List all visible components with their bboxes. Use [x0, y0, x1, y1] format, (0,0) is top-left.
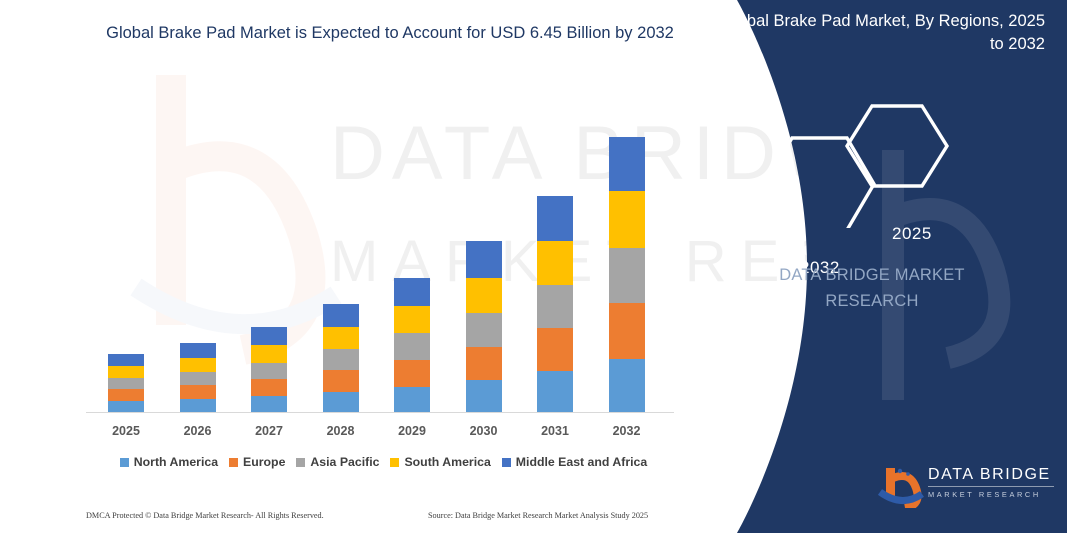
bar-segment — [180, 385, 216, 399]
bar-segment — [394, 306, 430, 333]
bar-column — [323, 304, 359, 413]
bar-column — [394, 278, 430, 413]
hexagon-2025-shape — [847, 106, 947, 186]
hexagon-2032-shape — [765, 138, 874, 228]
legend-item[interactable]: South America — [390, 455, 490, 469]
hexagons-icon — [752, 98, 1052, 228]
bar-segment — [251, 327, 287, 345]
bar-segment — [323, 304, 359, 327]
bar-segment — [323, 370, 359, 392]
bar-segment — [180, 358, 216, 372]
x-axis-label: 2027 — [234, 424, 304, 438]
bar-column — [466, 241, 502, 413]
bar-segment — [394, 333, 430, 360]
right-panel: Global Brake Pad Market, By Regions, 202… — [677, 0, 1067, 533]
legend-swatch — [120, 458, 129, 467]
bar-segment — [180, 399, 216, 413]
hexagon-group: 2025 2032 — [752, 98, 1052, 228]
bar-segment — [108, 378, 144, 389]
bar-segment — [251, 379, 287, 396]
legend-label: South America — [404, 455, 490, 469]
bar-segment — [394, 278, 430, 306]
bar-column — [537, 196, 573, 413]
bar-segment — [537, 371, 573, 413]
logo-divider — [928, 486, 1054, 487]
bar-segment — [323, 392, 359, 413]
legend-item[interactable]: Asia Pacific — [296, 455, 379, 469]
bar-segment — [394, 360, 430, 387]
bar-segment — [466, 241, 502, 278]
logo-subtitle: MARKET RESEARCH — [928, 490, 1054, 499]
x-axis-label: 2025 — [91, 424, 161, 438]
page-title: Global Brake Pad Market is Expected to A… — [86, 20, 694, 46]
panel-title: Global Brake Pad Market, By Regions, 202… — [712, 10, 1045, 56]
x-axis-label: 2029 — [377, 424, 447, 438]
panel-brand-line1: DATA BRIDGE MARKET — [697, 262, 1047, 288]
bar-column — [251, 327, 287, 413]
legend-label: North America — [134, 455, 218, 469]
bar-segment — [466, 313, 502, 347]
hexagon-2025-label: 2025 — [892, 224, 932, 244]
bar-segment — [609, 303, 645, 359]
bar-segment — [609, 359, 645, 413]
legend-item[interactable]: Europe — [229, 455, 285, 469]
bar-segment — [609, 248, 645, 303]
bar-segment — [108, 366, 144, 378]
bar-segment — [466, 347, 502, 380]
bar-segment — [180, 372, 216, 385]
bar-segment — [251, 345, 287, 363]
company-logo: DATA BRIDGE MARKET RESEARCH — [878, 462, 1058, 508]
bar-segment — [323, 349, 359, 370]
legend-label: Asia Pacific — [310, 455, 379, 469]
bar-segment — [323, 327, 359, 349]
panel-brand: DATA BRIDGE MARKET RESEARCH — [697, 262, 1047, 314]
x-axis-label: 2030 — [449, 424, 519, 438]
bar-segment — [108, 354, 144, 366]
bar-segment — [609, 137, 645, 191]
x-axis-label: 2026 — [163, 424, 233, 438]
legend-swatch — [296, 458, 305, 467]
footer-source: Source: Data Bridge Market Research Mark… — [428, 511, 648, 520]
bar-column — [180, 343, 216, 413]
legend-item[interactable]: North America — [120, 455, 218, 469]
bar-segment — [537, 285, 573, 328]
logo-text: DATA BRIDGE MARKET RESEARCH — [928, 466, 1054, 499]
footer-copyright: DMCA Protected © Data Bridge Market Rese… — [86, 511, 324, 520]
bar-segment — [466, 380, 502, 413]
x-axis-labels: 20252026202720282029203020312032 — [86, 424, 681, 446]
bar-segment — [466, 278, 502, 313]
legend-swatch — [502, 458, 511, 467]
x-axis-label: 2028 — [306, 424, 376, 438]
bar-segment — [537, 328, 573, 371]
bar-segment — [537, 196, 573, 241]
infographic-page: DATA BRIDGE MARKET RESEARCH Global Brake… — [0, 0, 1067, 533]
bar-segment — [609, 191, 645, 248]
legend-label: Europe — [243, 455, 285, 469]
bar-segment — [251, 363, 287, 379]
bar-segment — [537, 241, 573, 285]
legend-label: Middle East and Africa — [516, 455, 647, 469]
panel-brand-line2: RESEARCH — [697, 288, 1047, 314]
legend-swatch — [229, 458, 238, 467]
bar-segment — [394, 387, 430, 413]
logo-name: DATA BRIDGE — [928, 466, 1054, 484]
bar-segment — [180, 343, 216, 358]
bar-segment — [251, 396, 287, 413]
bar-column — [609, 137, 645, 413]
chart-legend: North AmericaEuropeAsia PacificSouth Ame… — [86, 455, 681, 469]
x-axis-line — [86, 412, 674, 413]
legend-swatch — [390, 458, 399, 467]
bar-segment — [108, 389, 144, 401]
legend-item[interactable]: Middle East and Africa — [502, 455, 647, 469]
x-axis-label: 2031 — [520, 424, 590, 438]
x-axis-label: 2032 — [592, 424, 662, 438]
bar-chart-plot — [86, 60, 681, 413]
footer: DMCA Protected © Data Bridge Market Rese… — [0, 505, 700, 529]
logo-b-bridge-icon — [878, 462, 926, 508]
bar-column — [108, 354, 144, 413]
